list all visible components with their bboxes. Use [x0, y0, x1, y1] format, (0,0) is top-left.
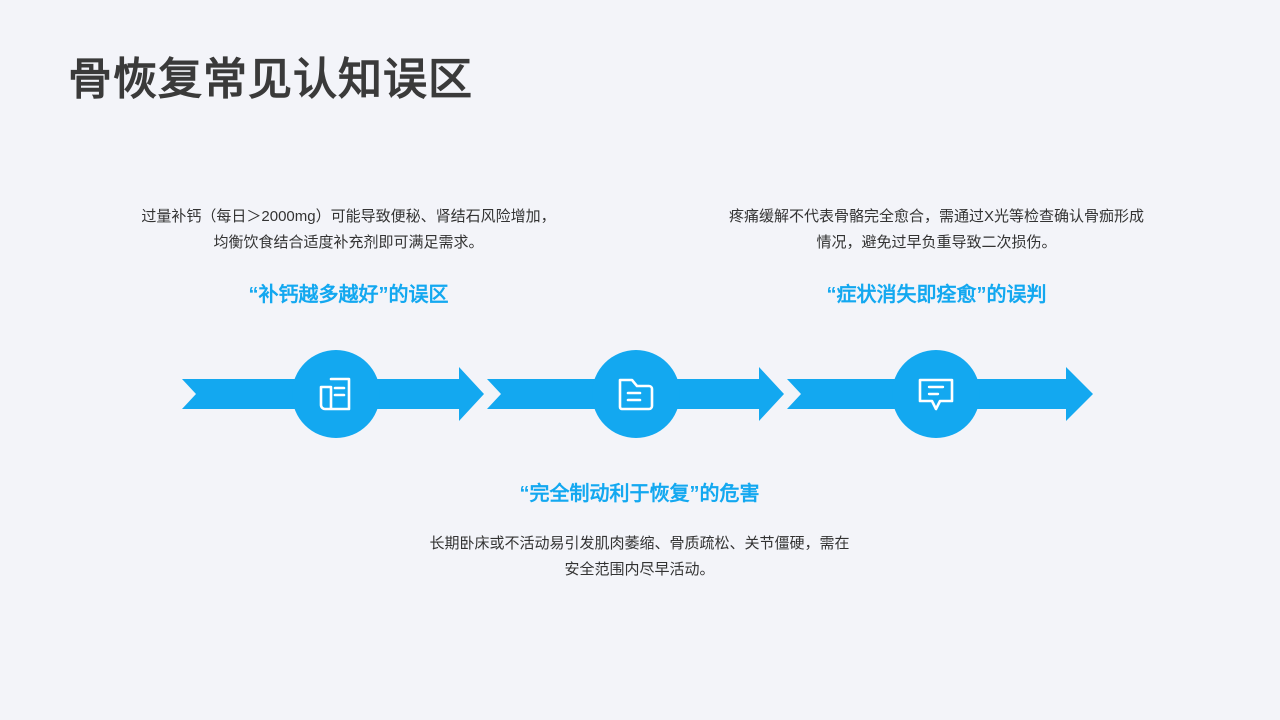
block-description: 过量补钙（每日＞2000mg）可能导致便秘、肾结石风险增加， 均衡饮食结合适度补… — [76, 204, 621, 257]
misconception-block-calcium: 过量补钙（每日＞2000mg）可能导致便秘、肾结石风险增加， 均衡饮食结合适度补… — [76, 204, 621, 311]
description-line-2: 均衡饮食结合适度补充剂即可满足需求。 — [213, 234, 483, 251]
description-line-2: 情况，避免过早负重导致二次损伤。 — [816, 234, 1056, 251]
description-line-2: 安全范围内尽早活动。 — [564, 561, 714, 578]
misconception-block-symptom: 疼痛缓解不代表骨骼完全愈合，需通过X光等检查确认骨痂形成 情况，避免过早负重导致… — [664, 204, 1209, 311]
chain-node-2[interactable] — [592, 350, 680, 438]
description-line-1: 过量补钙（每日＞2000mg）可能导致便秘、肾结石风险增加， — [141, 208, 555, 225]
description-line-1: 长期卧床或不活动易引发肌肉萎缩、骨质疏松、关节僵硬，需在 — [429, 535, 849, 552]
block-heading: “症状消失即痊愈”的误判 — [664, 279, 1209, 311]
arrow-chain — [0, 345, 1280, 445]
block-description: 长期卧床或不活动易引发肌肉萎缩、骨质疏松、关节僵硬，需在 安全范围内尽早活动。 — [367, 531, 912, 584]
block-description: 疼痛缓解不代表骨骼完全愈合，需通过X光等检查确认骨痂形成 情况，避免过早负重导致… — [664, 204, 1209, 257]
block-heading: “完全制动利于恢复”的危害 — [367, 478, 912, 510]
page-title: 骨恢复常见认知误区 — [68, 52, 473, 107]
misconception-block-immobilize: “完全制动利于恢复”的危害 长期卧床或不活动易引发肌肉萎缩、骨质疏松、关节僵硬，… — [367, 478, 912, 584]
block-heading: “补钙越多越好”的误区 — [76, 279, 621, 311]
chain-node-3[interactable] — [892, 350, 980, 438]
description-line-1: 疼痛缓解不代表骨骼完全愈合，需通过X光等检查确认骨痂形成 — [729, 208, 1144, 225]
chain-node-1[interactable] — [292, 350, 380, 438]
slide-root: 骨恢复常见认知误区 过量补钙（每日＞2000mg）可能导致便秘、肾结石风险增加，… — [0, 0, 1280, 720]
